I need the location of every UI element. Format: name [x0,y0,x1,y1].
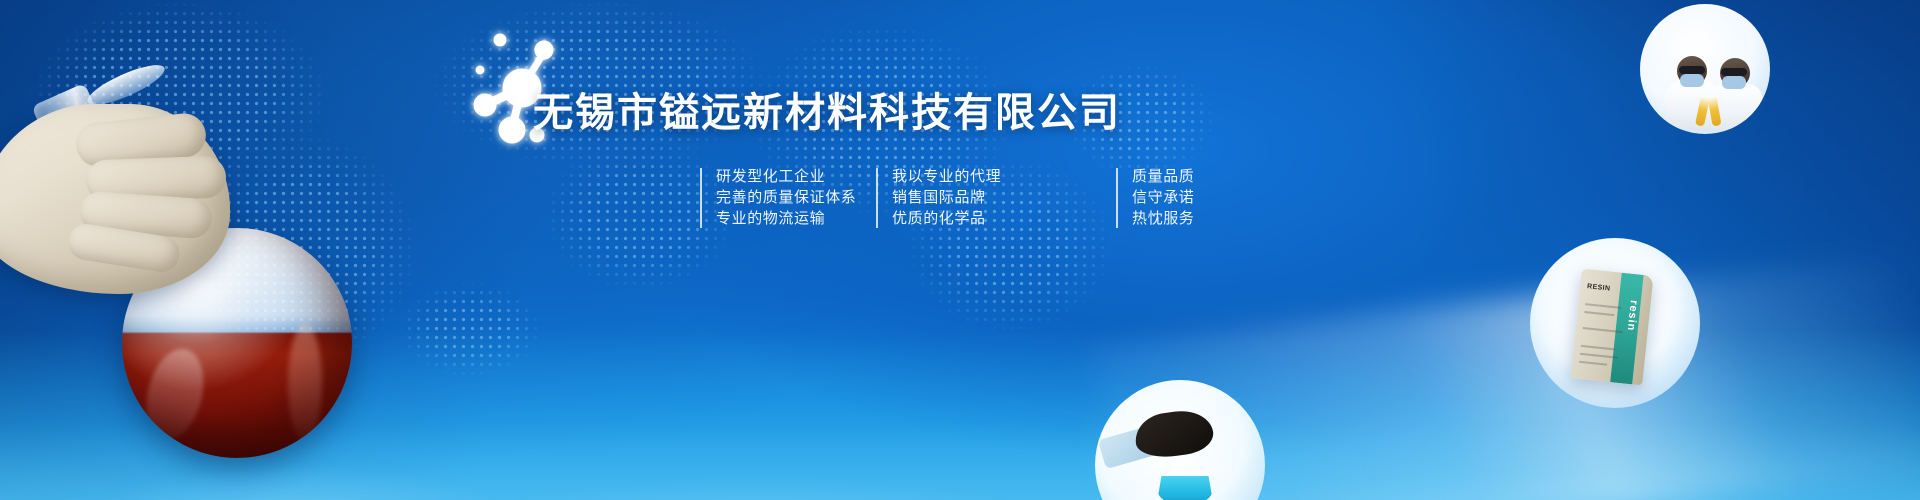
gloved-hand-flask-image [0,80,410,500]
face-mask-icon [1680,74,1704,87]
face-mask-icon [1722,76,1746,89]
chemical-bag: resin RESIN [1570,269,1653,386]
feature-line: 优质的化学品 [892,208,1116,229]
flask-liquid [1157,476,1213,500]
feature-line: 研发型化工企业 [716,166,876,187]
feature-line: 销售国际品牌 [892,187,1116,208]
feature-line: 热忱服务 [1132,208,1256,229]
bag-text-line [1579,361,1607,366]
feature-line: 信守承诺 [1132,187,1256,208]
bag-brand: RESIN [1587,283,1611,292]
feature-column-rd: 研发型化工企业 完善的质量保证体系 专业的物流运输 [700,166,876,229]
feature-line: 质量品质 [1132,166,1256,187]
company-banner: 无锡市镒远新材料科技有限公司 研发型化工企业 完善的质量保证体系 专业的物流运输… [0,0,1920,500]
flask-highlight [288,324,322,442]
scientists-bubble [1640,4,1770,134]
feature-column-service: 质量品质 信守承诺 热忱服务 [1116,166,1256,229]
flask-highlight [138,343,213,445]
resin-bag-bubble: resin RESIN [1530,238,1700,408]
goggles-icon [1721,68,1747,76]
feature-line: 我以专业的代理 [892,166,1116,187]
bag-text-line [1581,345,1615,351]
feature-line: 专业的物流运输 [716,208,876,229]
bag-text-line [1584,311,1614,316]
goggles-icon [1679,66,1705,74]
page-title: 无锡市镒远新材料科技有限公司 [533,90,1233,136]
bag-text-line [1585,303,1621,309]
feature-line: 完善的质量保证体系 [716,187,876,208]
feature-list: 研发型化工企业 完善的质量保证体系 专业的物流运输 我以专业的代理 销售国际品牌… [700,166,1256,229]
feature-column-agency: 我以专业的代理 销售国际品牌 优质的化学品 [876,166,1116,229]
